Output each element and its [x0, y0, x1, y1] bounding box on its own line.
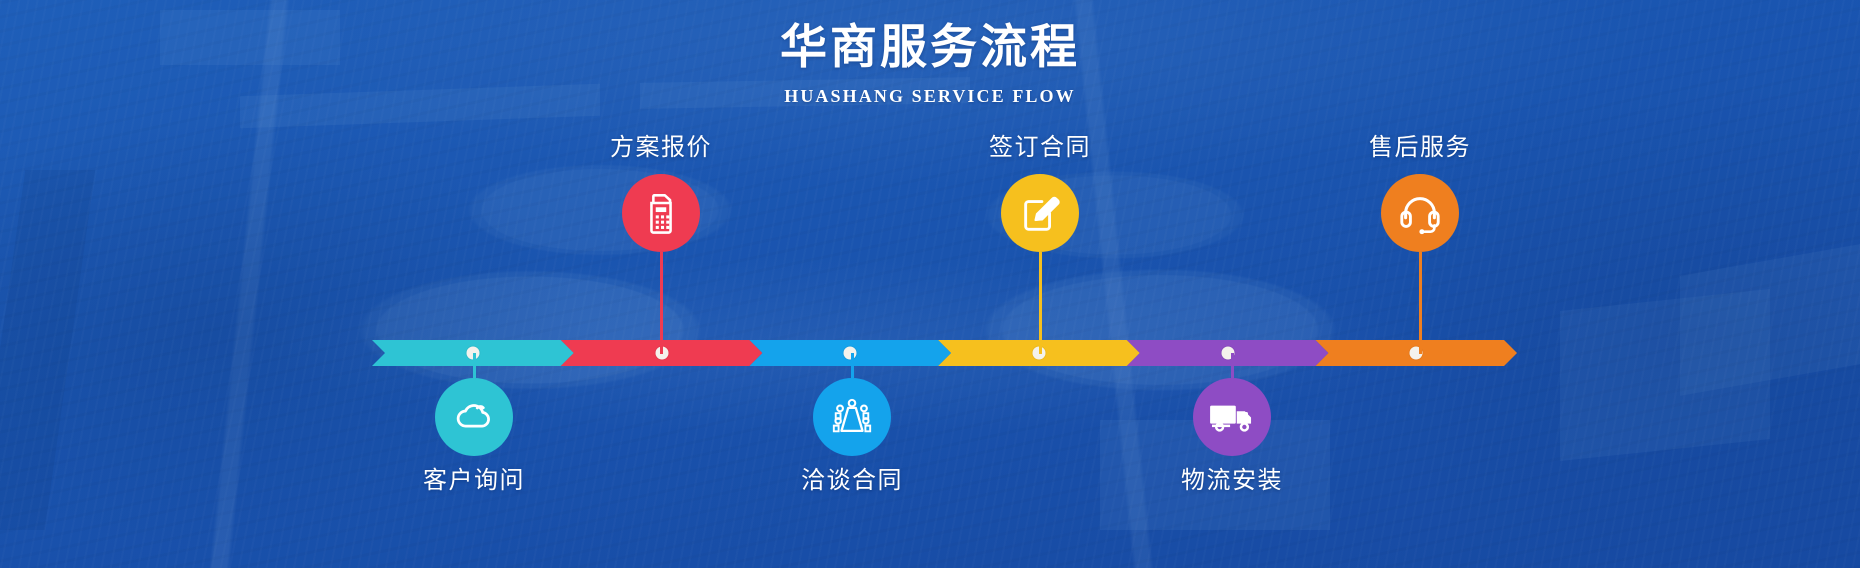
flow-step-1[interactable]: 客户询问: [374, 353, 574, 496]
truck-icon: [1207, 397, 1257, 437]
flow-step-icon-bubble-5[interactable]: [1193, 378, 1271, 456]
flow-step-label-3: 洽谈合同: [752, 467, 952, 496]
receipt-calculator-icon: [640, 190, 682, 236]
flow-step-label-5: 物流安装: [1132, 467, 1332, 496]
flow-step-connector-4: [1039, 252, 1042, 354]
pen-sign-icon: [1018, 191, 1062, 235]
headset-icon: [1397, 190, 1443, 236]
flow-step-icon-bubble-3[interactable]: [813, 378, 891, 456]
flow-step-connector-3: [851, 353, 854, 378]
flow-step-connector-6: [1419, 252, 1422, 354]
heading-block: 华商服务流程 HUASHANG SERVICE FLOW: [0, 18, 1860, 107]
flow-step-label-1: 客户询问: [374, 467, 574, 496]
flow-step-connector-1: [473, 353, 476, 378]
flow-step-label-2: 方案报价: [561, 134, 761, 163]
flow-step-connector-5: [1231, 353, 1234, 378]
flow-step-2[interactable]: 方案报价: [561, 134, 761, 354]
meeting-table-icon: [829, 395, 875, 439]
flow-step-icon-bubble-6[interactable]: [1381, 174, 1459, 252]
flow-step-5[interactable]: 物流安装: [1132, 353, 1332, 496]
flow-step-connector-2: [660, 252, 663, 354]
flow-step-6[interactable]: 售后服务: [1320, 134, 1520, 354]
flow-step-label-4: 签订合同: [940, 134, 1140, 163]
flow-step-4[interactable]: 签订合同: [940, 134, 1140, 354]
flow-step-label-6: 售后服务: [1320, 134, 1520, 163]
flow-step-icon-bubble-2[interactable]: [622, 174, 700, 252]
page-subtitle: HUASHANG SERVICE FLOW: [0, 86, 1860, 107]
cloud-icon: [451, 394, 497, 440]
flow-step-icon-bubble-1[interactable]: [435, 378, 513, 456]
flow-step-icon-bubble-4[interactable]: [1001, 174, 1079, 252]
service-flow-banner: 华商服务流程 HUASHANG SERVICE FLOW 客户询问方案报价: [0, 0, 1860, 568]
page-title: 华商服务流程: [0, 18, 1860, 77]
flow-step-3[interactable]: 洽谈合同: [752, 353, 952, 496]
